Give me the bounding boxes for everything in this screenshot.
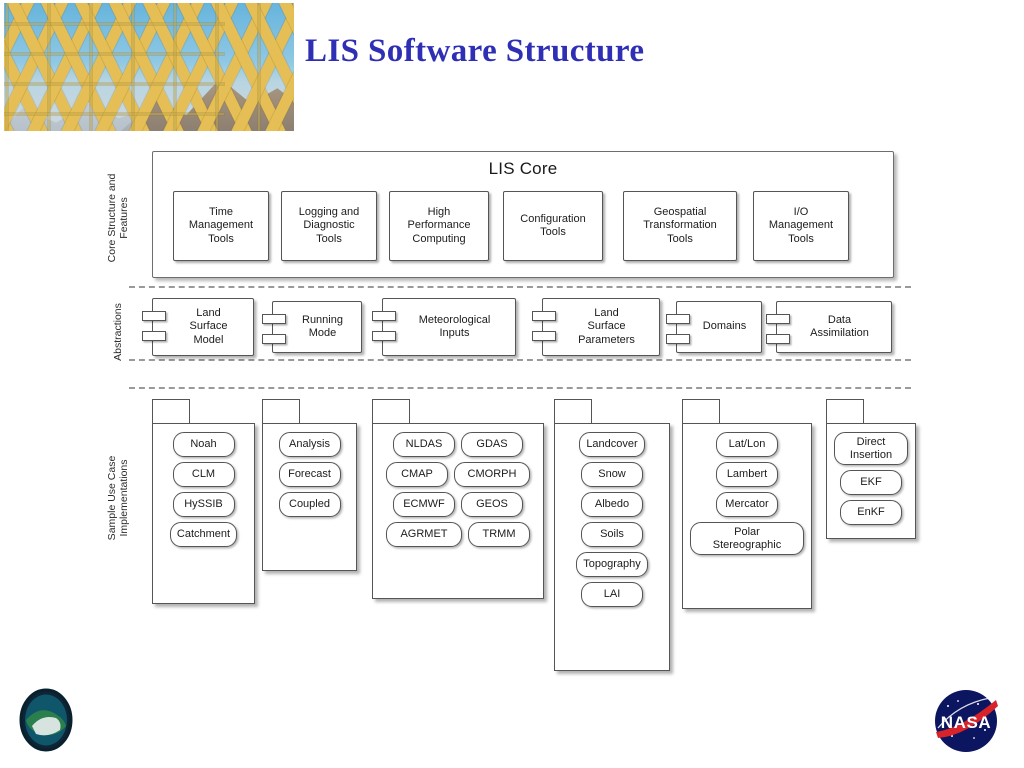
folder-item-list: LandcoverSnowAlbedoSoilsTopographyLAI [555, 432, 669, 607]
list-item[interactable]: Lat/Lon [716, 432, 778, 457]
lis-architecture-diagram: Core Structure and Features Abstractions… [104, 143, 904, 683]
list-item[interactable]: Snow [581, 462, 643, 487]
list-item[interactable]: EKF [840, 470, 902, 495]
use-case-folder-land-surface-parameters: LandcoverSnowAlbedoSoilsTopographyLAI [554, 399, 670, 671]
list-item[interactable]: HySSIB [173, 492, 235, 517]
component-lug-bottom [766, 334, 790, 344]
gsfc-seal-logo [18, 688, 74, 752]
component-lug-top [142, 311, 166, 321]
folder-body: NoahCLMHySSIBCatchment [152, 423, 255, 604]
lattice-grid [4, 3, 294, 131]
list-item[interactable]: GDAS [461, 432, 523, 457]
component-lug-bottom [142, 331, 166, 341]
folder-body: Lat/LonLambertMercatorPolar Stereographi… [682, 423, 812, 609]
core-box-4[interactable]: Geospatial Transformation Tools [623, 191, 737, 261]
core-box-3[interactable]: Configuration Tools [503, 191, 603, 261]
lattice-structure-photo [4, 3, 294, 131]
list-item[interactable]: Coupled [279, 492, 341, 517]
abstraction-0[interactable]: Land Surface Model [152, 298, 254, 356]
list-item[interactable]: AGRMET [386, 522, 462, 547]
section-divider [129, 387, 911, 389]
core-box-5[interactable]: I/O Management Tools [753, 191, 849, 261]
lis-core-container: LIS Core Time Management ToolsLogging an… [152, 151, 894, 278]
core-box-0[interactable]: Time Management Tools [173, 191, 269, 261]
folder-item-list: NLDASGDASCMAPCMORPHECMWFGEOSAGRMETTRMM [373, 432, 543, 547]
list-item[interactable]: LAI [581, 582, 643, 607]
list-item[interactable]: TRMM [468, 522, 530, 547]
list-item[interactable]: EnKF [840, 500, 902, 525]
list-item[interactable]: Soils [581, 522, 643, 547]
abstraction-label: Domains [688, 320, 750, 334]
list-item[interactable]: Noah [173, 432, 235, 457]
abstraction-label: Land Surface Parameters [563, 307, 639, 348]
list-item[interactable]: Polar Stereographic [690, 522, 804, 555]
use-case-folder-land-surface-models: NoahCLMHySSIBCatchment [152, 399, 255, 604]
folder-tab [372, 399, 410, 424]
component-lug-bottom [532, 331, 556, 341]
band-label-use-cases: Sample Use Case Implementations [106, 418, 130, 578]
folder-item-list: NoahCLMHySSIBCatchment [153, 432, 254, 547]
abstraction-1[interactable]: Running Mode [272, 301, 362, 353]
abstraction-label: Data Assimilation [795, 314, 873, 341]
list-item[interactable]: CMAP [386, 462, 448, 487]
folder-tab [262, 399, 300, 424]
folder-tab [682, 399, 720, 424]
use-case-folder-meteorological-inputs: NLDASGDASCMAPCMORPHECMWFGEOSAGRMETTRMM [372, 399, 544, 599]
folder-body: LandcoverSnowAlbedoSoilsTopographyLAI [554, 423, 670, 671]
folder-tab [554, 399, 592, 424]
list-item[interactable]: Direct Insertion [834, 432, 908, 465]
list-item[interactable]: Albedo [581, 492, 643, 517]
folder-body: AnalysisForecastCoupled [262, 423, 357, 571]
component-lug-bottom [666, 334, 690, 344]
component-lug-top [262, 314, 286, 324]
list-item[interactable]: Analysis [279, 432, 341, 457]
list-item[interactable]: Lambert [716, 462, 778, 487]
list-item[interactable]: Landcover [579, 432, 644, 457]
component-lug-bottom [262, 334, 286, 344]
lis-core-title: LIS Core [153, 159, 893, 179]
folder-item-list: Lat/LonLambertMercatorPolar Stereographi… [683, 432, 811, 555]
abstraction-label: Land Surface Model [175, 307, 232, 348]
folder-tab [826, 399, 864, 424]
list-item[interactable]: ECMWF [393, 492, 455, 517]
list-item[interactable]: Mercator [716, 492, 778, 517]
section-divider [129, 359, 911, 361]
nasa-meatball-logo: NASA [928, 688, 1004, 754]
list-item[interactable]: CLM [173, 462, 235, 487]
abstraction-5[interactable]: Data Assimilation [776, 301, 892, 353]
use-case-folder-domains: Lat/LonLambertMercatorPolar Stereographi… [682, 399, 812, 609]
list-item[interactable]: Catchment [170, 522, 237, 547]
use-case-folder-data-assimilation: Direct InsertionEKFEnKF [826, 399, 916, 539]
folder-body: NLDASGDASCMAPCMORPHECMWFGEOSAGRMETTRMM [372, 423, 544, 599]
nasa-wordmark: NASA [941, 713, 992, 732]
abstraction-3[interactable]: Land Surface Parameters [542, 298, 660, 356]
page-title: LIS Software Structure [305, 33, 644, 70]
list-item[interactable]: Topography [576, 552, 648, 577]
component-lug-top [666, 314, 690, 324]
list-item[interactable]: Forecast [279, 462, 341, 487]
band-label-abstractions: Abstractions [112, 287, 124, 377]
folder-body: Direct InsertionEKFEnKF [826, 423, 916, 539]
abstraction-2[interactable]: Meteorological Inputs [382, 298, 516, 356]
folder-item-list: Direct InsertionEKFEnKF [827, 432, 915, 525]
folder-tab [152, 399, 190, 424]
use-case-folder-running-modes: AnalysisForecastCoupled [262, 399, 357, 571]
section-divider [129, 286, 911, 288]
component-lug-bottom [372, 331, 396, 341]
core-box-1[interactable]: Logging and Diagnostic Tools [281, 191, 377, 261]
component-lug-top [372, 311, 396, 321]
list-item[interactable]: GEOS [461, 492, 523, 517]
folder-item-list: AnalysisForecastCoupled [263, 432, 356, 517]
component-lug-top [532, 311, 556, 321]
core-box-2[interactable]: High Performance Computing [389, 191, 489, 261]
list-item[interactable]: NLDAS [393, 432, 455, 457]
abstraction-label: Meteorological Inputs [404, 314, 495, 341]
component-lug-top [766, 314, 790, 324]
list-item[interactable]: CMORPH [454, 462, 530, 487]
band-label-core-structure: Core Structure and Features [106, 158, 130, 278]
abstraction-4[interactable]: Domains [676, 301, 762, 353]
abstraction-label: Running Mode [287, 314, 347, 341]
